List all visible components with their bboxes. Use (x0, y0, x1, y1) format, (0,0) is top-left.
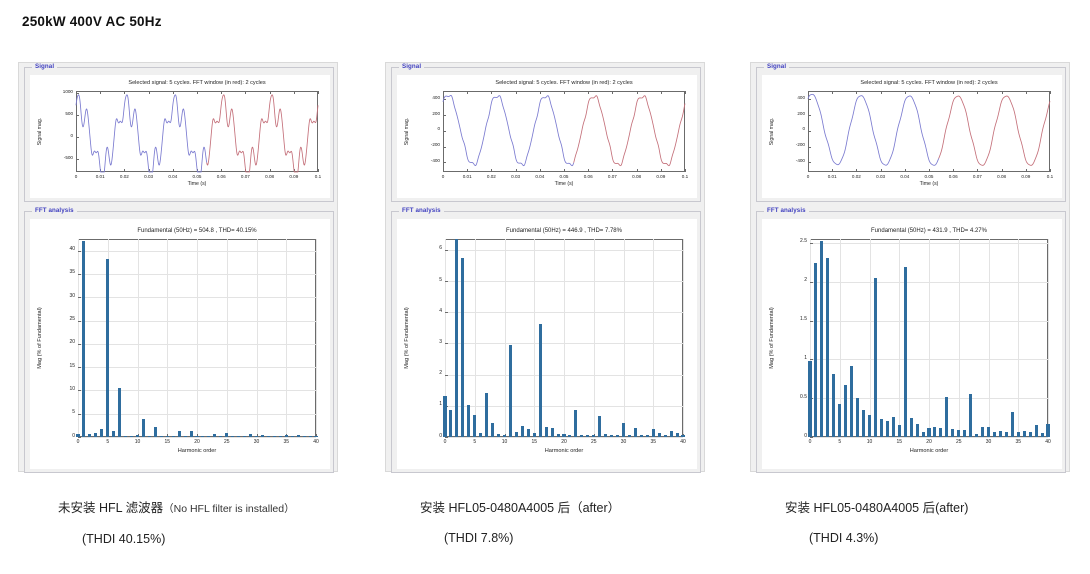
bar (485, 393, 488, 437)
signal-axes-1: Selected signal: 5 cycles. FFT window (i… (397, 75, 697, 198)
bar (190, 431, 193, 437)
x-tick-label: 5 (459, 440, 491, 445)
grid-v (138, 239, 139, 437)
y-axis-label: Mag (% of Fundamental) (770, 239, 776, 437)
bar (166, 436, 169, 437)
bar (945, 397, 948, 437)
bar (100, 429, 103, 437)
bar (910, 418, 913, 437)
x-axis-label: Time (s) (443, 182, 685, 187)
bar (1017, 432, 1020, 437)
grid-v (227, 239, 228, 437)
bar (467, 405, 470, 437)
caption-en: （No HFL filter is installed） (163, 503, 294, 515)
bar (670, 431, 673, 437)
y-tick-mark (445, 250, 448, 251)
fft-group-label: FFT analysis (764, 207, 809, 214)
x-tick-label: 20 (913, 440, 945, 445)
x-tick-label: 40 (1032, 440, 1064, 445)
bar (1011, 412, 1014, 437)
bar (473, 415, 476, 437)
bar (154, 427, 157, 437)
grid-h (445, 312, 683, 313)
bar (1046, 424, 1049, 437)
y-tick-label: 2 (417, 371, 442, 376)
grid-v (929, 239, 930, 437)
panel-columns: Signal Selected signal: 5 cycles. FFT wi… (0, 62, 1090, 574)
grid-v (505, 239, 506, 437)
y-tick-label: 0 (782, 434, 807, 439)
bar (237, 436, 240, 437)
bar (497, 434, 500, 437)
grid-h (445, 375, 683, 376)
bar (184, 436, 187, 437)
x-tick-label: 0 (794, 440, 826, 445)
x-tick-label: 5 (824, 440, 856, 445)
caption-after-filter-7-8: 安装 HFL05-0480A4005 后（after） (THDI 7.8%) (420, 500, 780, 547)
caption-line-1: 安装 HFL05-0480A4005 后（after） (420, 500, 780, 517)
x-tick-label: 10 (854, 440, 886, 445)
y-tick-mark (78, 297, 81, 298)
bar (957, 430, 960, 437)
signal-group-label: Signal (764, 63, 789, 70)
y-tick-mark (78, 321, 81, 322)
bar (503, 435, 506, 437)
bar (201, 436, 204, 437)
bar (225, 433, 228, 437)
bar (509, 345, 512, 437)
bar (634, 428, 637, 437)
bar (515, 432, 518, 437)
bar (604, 434, 607, 437)
bar (586, 435, 589, 437)
grid-h (78, 437, 316, 438)
bar (249, 434, 252, 437)
y-tick-label: 20 (50, 340, 75, 345)
bar (616, 435, 619, 437)
grid-h (445, 281, 683, 282)
bar (255, 436, 258, 437)
y-tick-label: 1 (782, 356, 807, 361)
grid-v (316, 239, 317, 437)
fft-plot-2: Fundamental (50Hz) = 431.9 , THD= 4.27%0… (762, 219, 1062, 469)
grid-h (445, 437, 683, 438)
grid-v (594, 239, 595, 437)
grid-v (653, 239, 654, 437)
y-tick-label: 25 (50, 317, 75, 322)
signal-group-0: Signal Selected signal: 5 cycles. FFT wi… (24, 67, 334, 202)
bar (461, 258, 464, 437)
bar (592, 435, 595, 437)
x-tick-label: 30 (973, 440, 1005, 445)
bar (106, 259, 109, 437)
fft-axes-2: Fundamental (50Hz) = 431.9 , THD= 4.27%0… (762, 219, 1062, 469)
bar (491, 423, 494, 437)
bar (213, 434, 216, 437)
grid-h (810, 437, 1048, 438)
y-tick-mark (78, 390, 81, 391)
bar (521, 426, 524, 437)
bar (820, 241, 823, 437)
grid-v (286, 239, 287, 437)
y-tick-label: 5 (50, 410, 75, 415)
bar (963, 430, 966, 437)
bar (951, 429, 954, 437)
x-tick-label: 30 (608, 440, 640, 445)
x-tick-label: 20 (548, 440, 580, 445)
caption-line-1: 安装 HFL05-0480A4005 后(after) (785, 500, 1090, 517)
bar (314, 436, 317, 437)
bar (993, 432, 996, 437)
bar (874, 278, 877, 437)
grid-h (810, 321, 1048, 322)
x-tick-label: 5 (92, 440, 124, 445)
bar (640, 435, 643, 437)
grid-h (78, 251, 316, 252)
signal-axes-0: Selected signal: 5 cycles. FFT window (i… (30, 75, 330, 198)
grid-v (683, 239, 684, 437)
grid-h (445, 406, 683, 407)
bar (112, 431, 115, 437)
grid-h (78, 344, 316, 345)
caption-cn: 安装 HFL05-0480A4005 后 (420, 501, 570, 515)
bar (904, 267, 907, 437)
bar (545, 427, 548, 437)
fft-group-1: FFT analysis Fundamental (50Hz) = 446.9 … (391, 211, 701, 473)
bar (868, 415, 871, 437)
bar (455, 239, 458, 437)
y-axis-label: Signal mag. (38, 91, 43, 172)
bar (646, 435, 649, 437)
y-tick-label: 3 (417, 340, 442, 345)
grid-h (445, 250, 683, 251)
bar (610, 435, 613, 437)
x-tick-label: 40 (667, 440, 699, 445)
figure-window-1: Signal Selected signal: 5 cycles. FFT wi… (385, 62, 705, 472)
y-tick-mark (445, 375, 448, 376)
bar (291, 436, 294, 437)
y-tick-label: 5 (417, 278, 442, 283)
grid-h (78, 321, 316, 322)
bar (148, 436, 151, 437)
grid-h (78, 297, 316, 298)
grid-h (78, 274, 316, 275)
bar (207, 436, 210, 437)
signal-plot-0: Selected signal: 5 cycles. FFT window (i… (30, 75, 330, 198)
grid-v (989, 239, 990, 437)
y-tick-mark (445, 343, 448, 344)
bar (1029, 432, 1032, 437)
x-tick-label: 15 (151, 440, 183, 445)
x-tick-label: 15 (883, 440, 915, 445)
bar (886, 421, 889, 437)
bar (172, 436, 175, 437)
grid-v (475, 239, 476, 437)
caption-thdi: (THDI 7.8%) (420, 530, 780, 547)
y-tick-mark (810, 282, 813, 283)
bar (580, 435, 583, 437)
bar (826, 258, 829, 437)
grid-h (78, 367, 316, 368)
grid-v (564, 239, 565, 437)
bar (856, 398, 859, 437)
bar (443, 396, 446, 437)
fft-plot-1: Fundamental (50Hz) = 446.9 , THD= 7.78%0… (397, 219, 697, 469)
fft-group-label: FFT analysis (399, 207, 444, 214)
x-tick-label: 10 (489, 440, 521, 445)
grid-h (78, 390, 316, 391)
bar (622, 423, 625, 437)
grid-h (445, 343, 683, 344)
figure-window-2: Signal Selected signal: 5 cycles. FFT wi… (750, 62, 1070, 472)
bar (598, 416, 601, 437)
page-title: 250kW 400V AC 50Hz (22, 14, 162, 29)
caption-cn: 未安装 HFL 滤波器 (58, 501, 163, 515)
grid-v (1048, 239, 1049, 437)
bar (628, 435, 631, 437)
bar (987, 427, 990, 437)
y-tick-mark (445, 281, 448, 282)
grid-v (167, 239, 168, 437)
bar (880, 419, 883, 437)
bar (142, 419, 145, 437)
fft-plot-0: Fundamental (50Hz) = 504.8 , THD= 40.15%… (30, 219, 330, 469)
bar (652, 429, 655, 437)
bar (658, 433, 661, 437)
grid-v (257, 239, 258, 437)
bar (76, 434, 79, 437)
bar (568, 435, 571, 437)
grid-v (78, 239, 79, 437)
grid-v (899, 239, 900, 437)
x-tick-label: 25 (578, 440, 610, 445)
bar (1035, 425, 1038, 437)
bar (88, 434, 91, 437)
y-axis-label: Signal mag. (770, 91, 775, 172)
grid-h (810, 243, 1048, 244)
y-tick-mark (445, 437, 448, 438)
caption-cn: 安装 HFL05-0480A4005 后 (785, 501, 935, 515)
bar (261, 435, 264, 437)
grid-v (624, 239, 625, 437)
y-tick-mark (78, 437, 81, 438)
fft-group-label: FFT analysis (32, 207, 77, 214)
bar (297, 435, 300, 437)
x-tick-label: 40 (300, 440, 332, 445)
panel-after-filter-4-3: Signal Selected signal: 5 cycles. FFT wi… (750, 62, 1080, 472)
bar (981, 427, 984, 437)
bar (527, 429, 530, 437)
bar (303, 436, 306, 437)
bar (219, 436, 222, 437)
x-tick-label: 20 (181, 440, 213, 445)
bar (892, 417, 895, 437)
fft-axes-1: Fundamental (50Hz) = 446.9 , THD= 7.78%0… (397, 219, 697, 469)
bar (844, 385, 847, 437)
bar (939, 428, 942, 437)
signal-axes-2: Selected signal: 5 cycles. FFT window (i… (762, 75, 1062, 198)
bar (927, 428, 930, 437)
caption-before-filter: 未安装 HFL 滤波器（No HFL filter is installed） … (58, 500, 418, 548)
bar (975, 434, 978, 437)
y-tick-mark (78, 414, 81, 415)
bar (309, 436, 312, 437)
caption-thdi: (THDI 4.3%) (785, 530, 1090, 547)
bar (557, 434, 560, 437)
y-tick-mark (78, 344, 81, 345)
x-tick-label: 35 (1002, 440, 1034, 445)
waveform (397, 75, 697, 198)
bar (814, 263, 817, 437)
caption-en: (after) (935, 501, 968, 515)
y-tick-label: 1.5 (782, 317, 807, 322)
y-axis-label: Signal mag. (405, 91, 410, 172)
bar (681, 435, 684, 437)
y-tick-label: 1 (417, 402, 442, 407)
x-axis-label: Time (s) (76, 182, 318, 187)
y-tick-mark (78, 367, 81, 368)
bar (1023, 431, 1026, 437)
x-axis-label: Harmonic order (78, 449, 316, 455)
bar (862, 410, 865, 437)
x-axis-label: Harmonic order (810, 449, 1048, 455)
x-tick-label: 10 (122, 440, 154, 445)
bar (243, 436, 246, 437)
bar (1041, 433, 1044, 437)
y-tick-label: 0 (50, 434, 75, 439)
bar (933, 427, 936, 437)
y-tick-label: 10 (50, 387, 75, 392)
bar (267, 436, 270, 437)
y-tick-label: 30 (50, 294, 75, 299)
grid-h (78, 414, 316, 415)
bar (539, 324, 542, 437)
y-tick-mark (810, 321, 813, 322)
fft-group-0: FFT analysis Fundamental (50Hz) = 504.8 … (24, 211, 334, 473)
bar (231, 436, 234, 437)
grid-v (1018, 239, 1019, 437)
signal-group-label: Signal (32, 63, 57, 70)
plot-title: Fundamental (50Hz) = 431.9 , THD= 4.27% (810, 228, 1048, 234)
y-tick-mark (78, 251, 81, 252)
signal-group-2: Signal Selected signal: 5 cycles. FFT wi… (756, 67, 1066, 202)
bar (533, 433, 536, 437)
grid-v (870, 239, 871, 437)
waveform (30, 75, 330, 198)
y-tick-mark (810, 437, 813, 438)
x-tick-label: 25 (211, 440, 243, 445)
y-tick-label: 40 (50, 247, 75, 252)
bar (850, 366, 853, 437)
signal-plot-1: Selected signal: 5 cycles. FFT window (i… (397, 75, 697, 198)
bar (178, 431, 181, 437)
bar (969, 394, 972, 437)
bar (551, 428, 554, 437)
bar (999, 431, 1002, 437)
bar (832, 374, 835, 437)
x-tick-label: 35 (637, 440, 669, 445)
bar (285, 435, 288, 437)
bar (160, 436, 163, 437)
bar (664, 435, 667, 437)
y-tick-label: 2.5 (782, 239, 807, 244)
y-tick-label: 35 (50, 270, 75, 275)
fft-axes-0: Fundamental (50Hz) = 504.8 , THD= 40.15%… (30, 219, 330, 469)
bar (118, 388, 121, 437)
bar (1005, 432, 1008, 437)
x-tick-label: 25 (943, 440, 975, 445)
grid-v (959, 239, 960, 437)
y-tick-label: 4 (417, 309, 442, 314)
x-tick-label: 0 (429, 440, 461, 445)
bar (916, 424, 919, 437)
bar (279, 436, 282, 437)
y-tick-label: 15 (50, 364, 75, 369)
signal-group-label: Signal (399, 63, 424, 70)
plot-title: Fundamental (50Hz) = 504.8 , THD= 40.15% (78, 228, 316, 234)
x-tick-label: 30 (241, 440, 273, 445)
bar (808, 361, 811, 437)
y-tick-mark (78, 274, 81, 275)
x-axis-label: Time (s) (808, 182, 1050, 187)
y-tick-label: 2 (782, 278, 807, 283)
grid-h (810, 282, 1048, 283)
signal-group-1: Signal Selected signal: 5 cycles. FFT wi… (391, 67, 701, 202)
bar (82, 241, 85, 437)
bar (94, 433, 97, 437)
bar (136, 435, 139, 437)
x-tick-label: 35 (270, 440, 302, 445)
grid-v (197, 239, 198, 437)
figure-window-0: Signal Selected signal: 5 cycles. FFT wi… (18, 62, 338, 472)
bar (922, 432, 925, 437)
caption-after-filter-4-3: 安装 HFL05-0480A4005 后(after) (THDI 4.3%) (785, 500, 1090, 547)
bar (562, 434, 565, 437)
signal-plot-2: Selected signal: 5 cycles. FFT window (i… (762, 75, 1062, 198)
caption-thdi: (THDI 40.15%) (58, 531, 418, 548)
bar (676, 433, 679, 437)
caption-en: （after） (570, 501, 620, 515)
bar (838, 404, 841, 437)
bar (479, 433, 482, 437)
bar (574, 410, 577, 437)
y-tick-label: 0.5 (782, 395, 807, 400)
bar (273, 436, 276, 437)
waveform (762, 75, 1062, 198)
panel-before-filter: Signal Selected signal: 5 cycles. FFT wi… (18, 62, 348, 472)
y-tick-mark (810, 243, 813, 244)
y-tick-label: 6 (417, 246, 442, 251)
x-axis-label: Harmonic order (445, 449, 683, 455)
panel-after-filter-7-8: Signal Selected signal: 5 cycles. FFT wi… (385, 62, 715, 472)
bar (195, 436, 198, 437)
grid-v (534, 239, 535, 437)
x-tick-label: 15 (518, 440, 550, 445)
x-tick-label: 0 (62, 440, 94, 445)
bar (449, 410, 452, 437)
plot-title: Fundamental (50Hz) = 446.9 , THD= 7.78% (445, 228, 683, 234)
y-axis-label: Mag (% of Fundamental) (405, 239, 411, 437)
y-tick-label: 0 (417, 434, 442, 439)
fft-group-2: FFT analysis Fundamental (50Hz) = 431.9 … (756, 211, 1066, 473)
y-tick-mark (445, 312, 448, 313)
bar (130, 436, 133, 437)
bar (898, 425, 901, 437)
grid-h (810, 359, 1048, 360)
caption-line-1: 未安装 HFL 滤波器（No HFL filter is installed） (58, 500, 418, 518)
bar (124, 436, 127, 437)
y-axis-label: Mag (% of Fundamental) (38, 239, 44, 437)
